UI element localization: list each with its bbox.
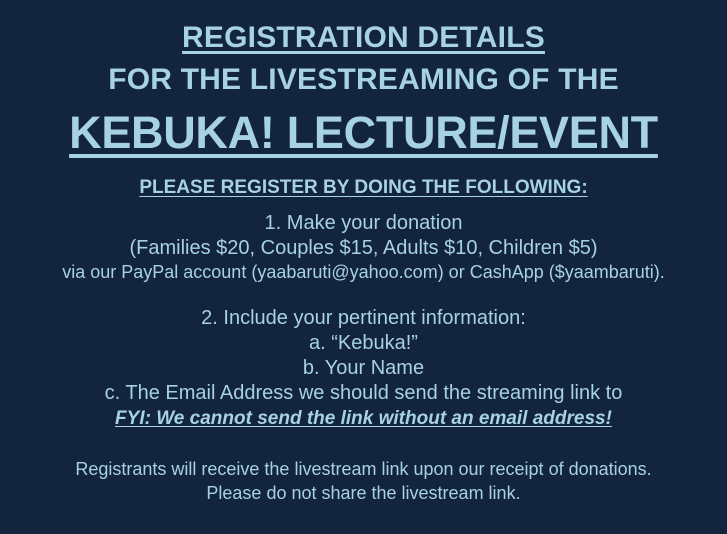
step-one-block: 1. Make your donation (Families $20, Cou… (62, 211, 665, 284)
page-title-line-1: REGISTRATION DETAILS (182, 22, 545, 54)
footer-note-line-1: Registrants will receive the livestream … (75, 457, 651, 481)
instructions-subheading: PLEASE REGISTER BY DOING THE FOLLOWING: (139, 178, 587, 199)
page-title-event-name: KEBUKA! LECTURE/EVENT (69, 109, 658, 156)
step-one-pricing: (Families $20, Couples $15, Adults $10, … (62, 236, 665, 261)
step-one-title: 1. Make your donation (62, 211, 665, 236)
registration-details-slide: REGISTRATION DETAILS FOR THE LIVESTREAMI… (0, 0, 727, 534)
footer-note-block: Registrants will receive the livestream … (75, 457, 651, 505)
step-two-block: 2. Include your pertinent information: a… (105, 306, 623, 431)
step-one-payment-methods: via our PayPal account (yaabaruti@yahoo.… (62, 261, 665, 284)
page-title-line-2: FOR THE LIVESTREAMING OF THE (108, 64, 619, 96)
step-two-title: 2. Include your pertinent information: (105, 306, 623, 331)
step-two-item-a: a. “Kebuka!” (105, 331, 623, 356)
step-two-item-c: c. The Email Address we should send the … (105, 381, 623, 406)
step-two-item-b: b. Your Name (105, 356, 623, 381)
email-required-warning: FYI: We cannot send the link without an … (105, 406, 623, 431)
footer-note-line-2: Please do not share the livestream link. (75, 481, 651, 505)
